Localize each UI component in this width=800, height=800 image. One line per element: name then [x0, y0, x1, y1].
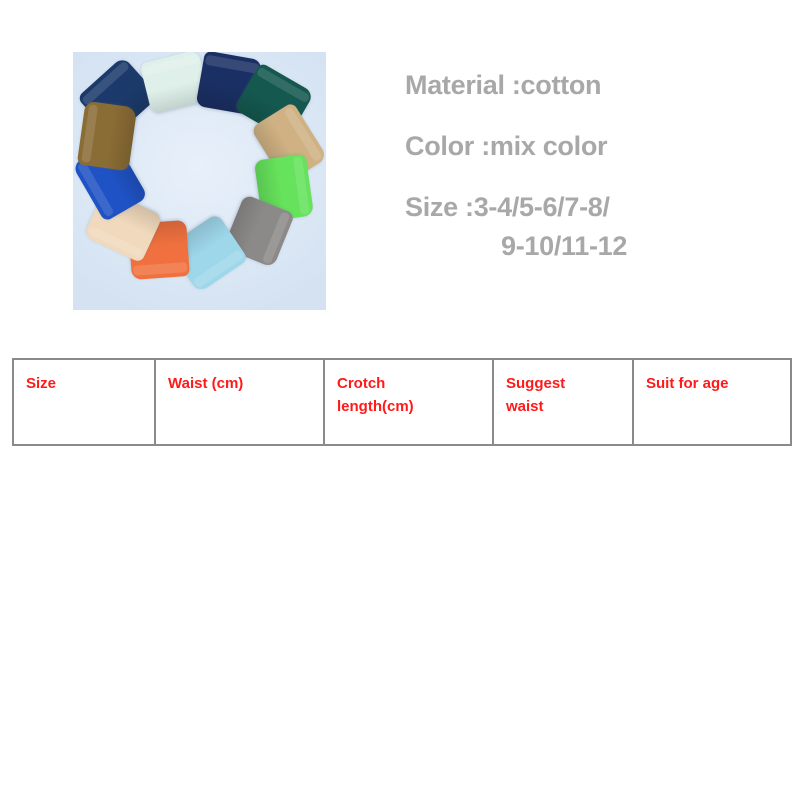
size-chart-table: Size Waist (cm) Crotchlength(cm) Suggest… [12, 358, 792, 446]
table-header-row: Size Waist (cm) Crotchlength(cm) Suggest… [13, 359, 791, 445]
spec-color: Color :mix color [405, 133, 790, 160]
product-photo [73, 52, 326, 310]
spec-size-line-2: 9-10/11-12 [405, 233, 790, 260]
spec-size-line-1: Size :3-4/5-6/7-8/ [405, 194, 790, 221]
column-header-waist: Waist (cm) [155, 359, 324, 445]
column-header-suggest-waist: Suggestwaist [493, 359, 633, 445]
spec-material: Material :cotton [405, 72, 790, 99]
brown-khaki-pants [77, 101, 137, 172]
product-spec-block: Material :cotton Color :mix color Size :… [405, 72, 790, 260]
column-header-size: Size [13, 359, 155, 445]
column-header-suit-for-age: Suit for age [633, 359, 791, 445]
column-header-crotch-length: Crotchlength(cm) [324, 359, 493, 445]
